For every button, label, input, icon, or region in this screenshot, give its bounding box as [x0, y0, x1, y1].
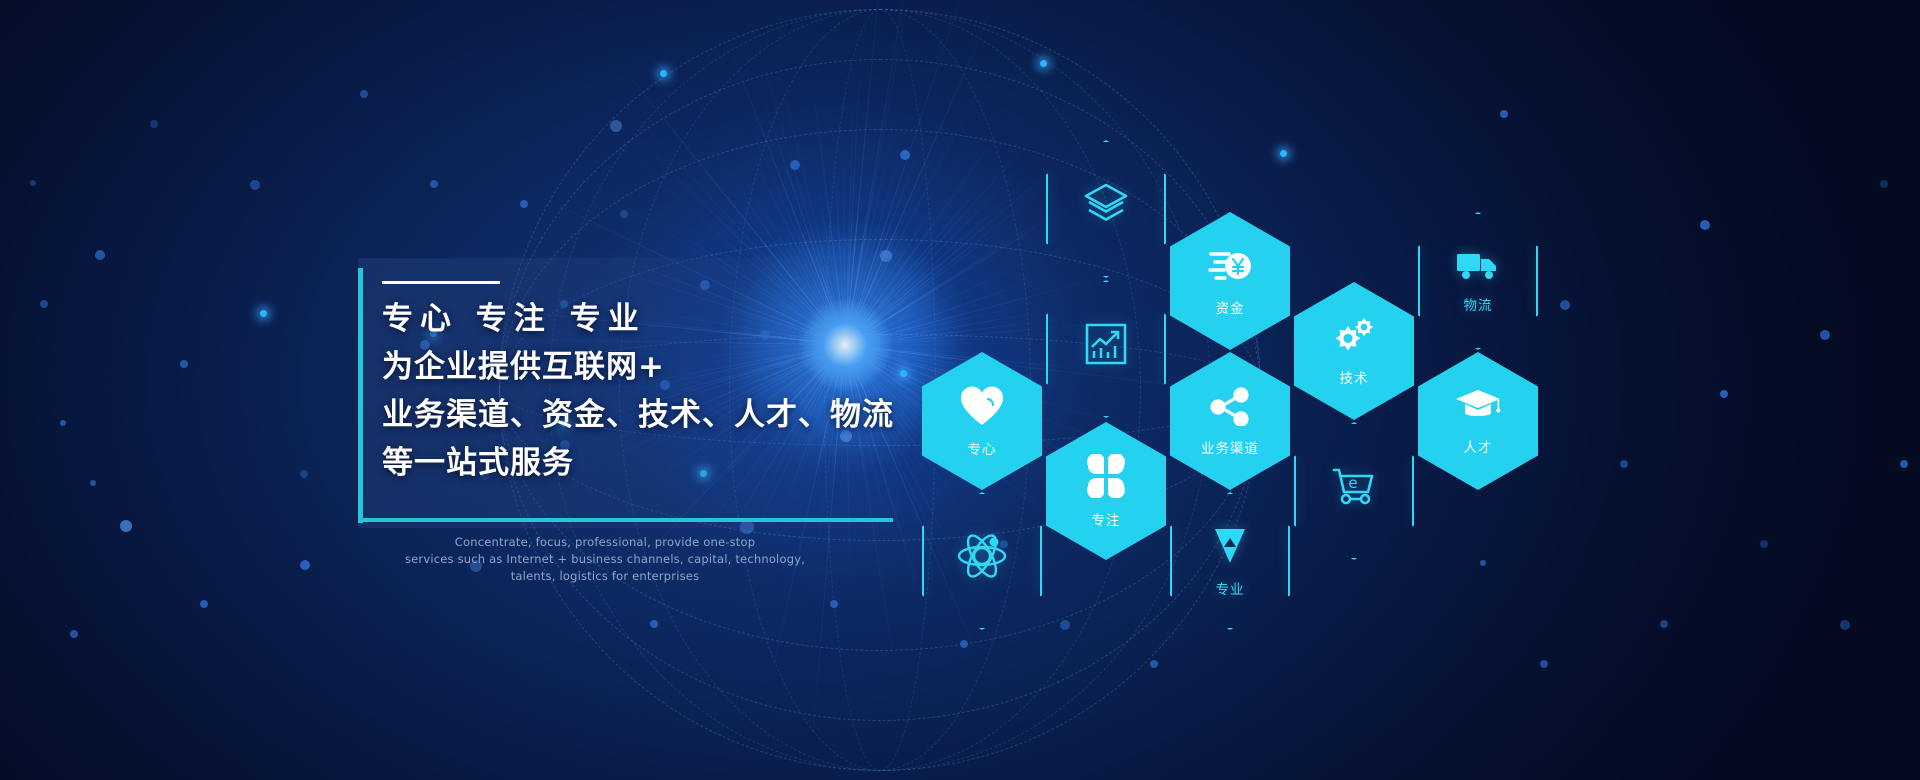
subtitle-english: Concentrate, focus, professional, provid… [390, 534, 820, 585]
headline-rule [382, 281, 500, 284]
heart-icon [959, 385, 1005, 431]
page-title: 专心 专注 专业 为企业提供互联网+ 业务渠道、资金、技术、人才、物流 等一站式… [382, 295, 912, 487]
hex-label-heart: 专心 [968, 438, 997, 458]
hex-label-clover: 专注 [1092, 509, 1121, 529]
money-yen-icon [1207, 246, 1253, 290]
graduation-cap-icon [1455, 387, 1501, 429]
headline-line-3: 业务渠道、资金、技术、人才、物流 [382, 391, 912, 439]
growth-chart-icon [1082, 320, 1130, 372]
truck-icon [1455, 249, 1501, 287]
clover-icon [1084, 454, 1128, 502]
hex-label-tech: 技术 [1340, 367, 1369, 387]
diamond-icon [1209, 525, 1251, 571]
share-nodes-icon [1208, 386, 1252, 430]
hex-label-channels: 业务渠道 [1201, 437, 1259, 457]
hex-label-diamond: 专业 [1216, 578, 1245, 598]
headline-line-2: 为企业提供互联网+ [382, 343, 912, 391]
hex-label-talent: 人才 [1464, 436, 1493, 456]
subtitle-line-3: talents, logistics for enterprises [390, 568, 820, 585]
accent-bar-left [358, 268, 363, 523]
headline-line-1: 专心 专注 专业 [382, 295, 912, 343]
hex-label-capital: 资金 [1216, 297, 1245, 317]
hex-label-logistics: 物流 [1464, 294, 1493, 314]
atom-icon [956, 532, 1008, 584]
headline-line-4: 等一站式服务 [382, 439, 912, 487]
gears-icon [1331, 316, 1377, 360]
svg-text:e: e [1348, 474, 1357, 492]
hero-banner: 专心 专注 专业 为企业提供互联网+ 业务渠道、资金、技术、人才、物流 等一站式… [0, 0, 1920, 780]
accent-bar-bottom [358, 518, 893, 522]
subtitle-line-2: services such as Internet + business cha… [390, 551, 820, 568]
layers-icon [1081, 181, 1131, 231]
subtitle-line-1: Concentrate, focus, professional, provid… [390, 534, 820, 551]
shopping-cart-e-icon: e [1330, 466, 1378, 510]
